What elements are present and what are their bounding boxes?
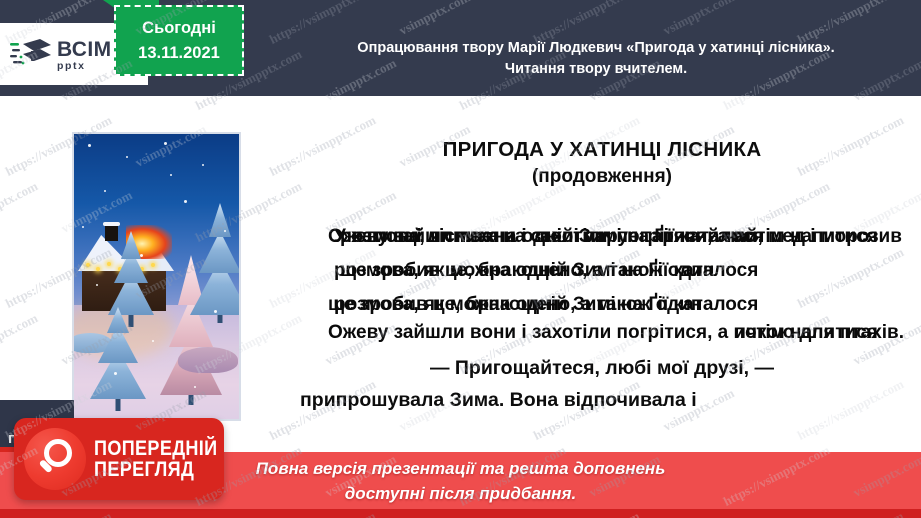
banner-line-1: Повна версія презентації та решта доповн… [256,456,666,481]
pine-tree [90,307,146,411]
pine-tree [190,203,239,323]
date-badge-label: Сьогодні [142,16,216,41]
banner-base-strip [0,509,921,518]
page-title: ПРИГОДА У ХАТИНЦІ ЛІСНИКА [300,136,904,163]
preview-badge-line-1: ПОПЕРЕДНІЙ [94,438,218,459]
header-line-1: Опрацювання твору Марії Людкевич «Пригод… [296,38,896,59]
slide-body: ПРИГОДА У ХАТИНЦІ ЛІСНИКА (продовження) … [300,136,904,416]
logo-subtitle: pptx [57,61,111,72]
clear-line-2: припрошувала Зима. Вона відпочивала і [300,384,904,416]
winter-cottage-illustration [72,132,241,421]
magnifier-icon [24,428,86,490]
graduation-cap-icon [10,38,52,72]
slide-header-text: Опрацювання твору Марії Людкевич «Пригод… [296,38,896,80]
slide-canvas: ВСІМ pptx Сьогодні 13.11.2021 Опрацюванн… [0,0,921,518]
page-subtitle: (продовження) [300,164,904,190]
overlap-layer-3: розмова, як можна одній Зимі на Ґії ката… [300,220,904,254]
header-line-2: Читання твору вчителем. [296,59,896,80]
overlap-layer-5: ще зробив це, бракощено, а також один [300,254,904,288]
overlapping-text-stack: У хатинці лісника на столі парує гарячий… [300,220,904,346]
preview-badge[interactable]: ПОПЕРЕДНІЙ ПЕРЕГЛЯД [14,418,224,500]
banner-line-2: доступні після придбання. [345,481,576,506]
date-badge-value: 13.11.2021 [138,41,220,66]
preview-badge-line-2: ПЕРЕГЛЯД [94,459,218,480]
logo-name: ВСІМ [57,39,111,60]
overlap-layer-8: Ожеву зайшли вони і захотіли погрітися, … [300,316,904,350]
date-badge: Сьогодні 13.11.2021 [114,5,244,76]
snow-bank [178,347,238,373]
clear-line-1: — Пригощайтеся, любі мої друзі, — [300,352,904,384]
clear-paragraph: — Пригощайтеся, любі мої друзі, — припро… [300,352,904,416]
